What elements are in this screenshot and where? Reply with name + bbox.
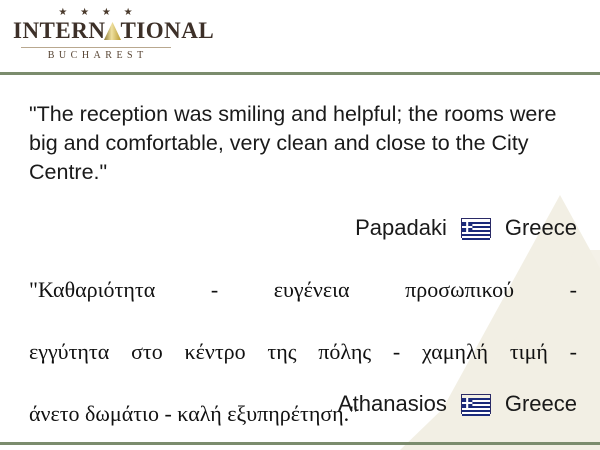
testimonial-quote-greek-line-2: εγγύτητα στο κέντρο της πόλης - χαμηλή τ…	[29, 336, 577, 398]
testimonial-quote-english: "The reception was smiling and helpful; …	[29, 100, 577, 187]
testimonial-attribution-1: Papadaki Greece	[29, 214, 577, 241]
testimonial-quote-greek-line-1: "Καθαριότητα - ευγένεια προσωπικού -	[29, 274, 577, 336]
footer-divider-line	[0, 442, 600, 445]
testimonial-author-1: Papadaki	[355, 214, 447, 241]
logo-city-label: BUCHAREST	[13, 50, 178, 62]
testimonial-attribution-2: Athanasios Greece	[29, 390, 577, 417]
logo-wordmark-after: TIONAL	[120, 18, 214, 43]
logo-wordmark: INTERNTIONAL	[13, 19, 178, 44]
testimonial-slide: ★ ★ ★ ★ INTERNTIONAL BUCHAREST "The rece…	[0, 0, 600, 450]
testimonial-country-2: Greece	[505, 390, 577, 417]
logo-wordmark-before: INTERN	[13, 18, 105, 43]
slide-header: ★ ★ ★ ★ INTERNTIONAL BUCHAREST	[0, 0, 600, 74]
logo-divider	[21, 47, 171, 48]
mountain-peak-icon	[104, 21, 121, 39]
hotel-logo: ★ ★ ★ ★ INTERNTIONAL BUCHAREST	[13, 7, 178, 62]
header-divider-line	[0, 72, 600, 75]
testimonial-country-1: Greece	[505, 214, 577, 241]
greece-flag-icon	[461, 218, 491, 238]
testimonial-author-2: Athanasios	[338, 390, 447, 417]
greece-flag-icon	[461, 394, 491, 414]
